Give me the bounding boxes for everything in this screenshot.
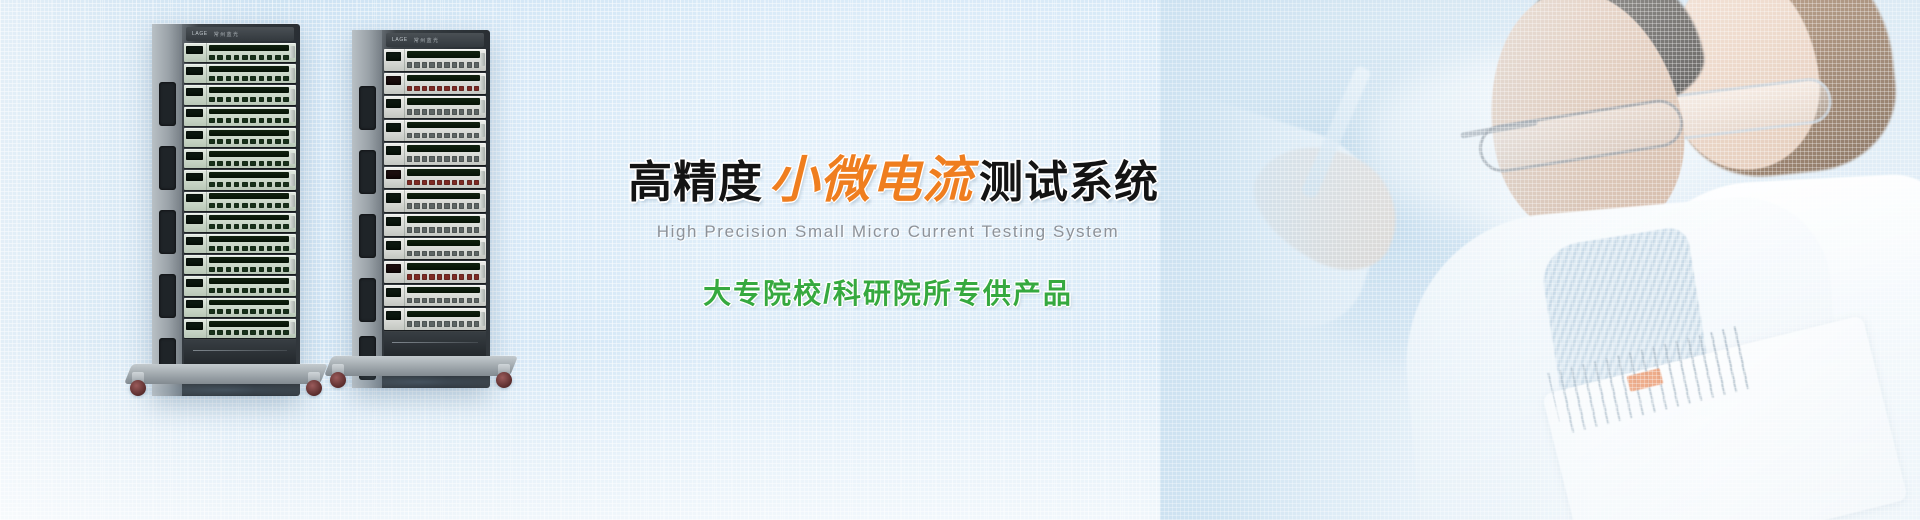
unit-knob: [429, 86, 434, 92]
unit-knob: [467, 86, 472, 92]
unit-knob: [275, 55, 281, 60]
unit-knob: [242, 118, 248, 123]
unit-display: [186, 88, 203, 96]
unit-knob: [259, 288, 265, 293]
unit-knob: [422, 298, 427, 304]
unit-knob: [422, 180, 427, 186]
unit-knob: [459, 133, 464, 139]
unit-knob: [444, 86, 449, 92]
unit-knob: [250, 76, 256, 81]
unit-display: [186, 131, 203, 139]
rack-unit: [384, 308, 486, 330]
unit-knob: [459, 251, 464, 257]
unit-knob-row: [407, 321, 480, 327]
rack-unit: [384, 73, 486, 95]
unit-display: [186, 67, 203, 75]
rack-unit: [184, 213, 296, 232]
unit-channel-section: [207, 170, 296, 189]
unit-handle: [290, 280, 295, 292]
headline-suffix: 测试系统: [979, 158, 1159, 207]
unit-knob: [474, 251, 479, 257]
unit-knob: [283, 267, 289, 272]
unit-channel-section: [207, 255, 296, 274]
rack-unit: [184, 319, 296, 338]
unit-knob-row: [209, 224, 289, 229]
unit-knob: [474, 321, 479, 327]
unit-knob: [209, 76, 215, 81]
unit-channel-section: [405, 190, 486, 212]
unit-control-section: [384, 214, 405, 236]
unit-knob-row: [209, 267, 289, 272]
unit-knob: [217, 182, 223, 187]
unit-knob: [275, 267, 281, 272]
unit-control-section: [184, 170, 207, 189]
unit-knob: [467, 133, 472, 139]
unit-knob: [429, 251, 434, 257]
unit-knob: [250, 246, 256, 251]
unit-knob: [242, 309, 248, 314]
rack-left-post: [352, 30, 382, 388]
unit-knob: [459, 180, 464, 186]
unit-channel-section: [405, 49, 486, 71]
unit-led-bar: [209, 172, 289, 178]
unit-knob: [407, 203, 412, 209]
unit-channel-section: [405, 143, 486, 165]
unit-knob: [250, 139, 256, 144]
unit-handle: [480, 218, 485, 231]
unit-knob-row: [407, 274, 480, 280]
unit-knob: [452, 109, 457, 115]
rack-post-slot: [359, 214, 376, 258]
unit-display: [186, 258, 203, 266]
unit-knob: [459, 109, 464, 115]
headline-prefix: 高精度: [628, 158, 763, 207]
rack-unit: [384, 167, 486, 189]
rack-unit: [384, 214, 486, 236]
unit-knob: [459, 321, 464, 327]
unit-knob: [234, 139, 240, 144]
unit-knob: [234, 330, 240, 335]
rack-post-slot: [359, 278, 376, 322]
unit-knob: [444, 156, 449, 162]
unit-knob: [444, 109, 449, 115]
unit-knob: [226, 246, 232, 251]
unit-knob: [422, 274, 427, 280]
unit-knob: [422, 133, 427, 139]
unit-knob: [226, 288, 232, 293]
unit-knob: [234, 76, 240, 81]
unit-knob-row: [209, 161, 289, 166]
unit-channel-section: [405, 120, 486, 142]
unit-knob: [217, 330, 223, 335]
rack-unit: [184, 107, 296, 126]
rack-base: [128, 352, 324, 396]
unit-knob: [474, 156, 479, 162]
unit-knob: [209, 161, 215, 166]
unit-knob-row: [407, 298, 480, 304]
unit-knob: [467, 180, 472, 186]
unit-knob: [267, 267, 273, 272]
unit-knob: [407, 227, 412, 233]
unit-knob: [275, 76, 281, 81]
unit-display: [386, 193, 401, 202]
unit-display: [186, 152, 203, 160]
unit-knob: [422, 251, 427, 257]
rack-unit: [184, 149, 296, 168]
subtitle-english: High Precision Small Micro Current Testi…: [628, 222, 1148, 242]
unit-led-bar: [209, 151, 289, 157]
lab-researchers-photo: [1160, 0, 1920, 520]
unit-handle: [480, 242, 485, 255]
unit-knob: [414, 298, 419, 304]
unit-knob: [452, 227, 457, 233]
unit-knob: [422, 156, 427, 162]
unit-knob: [452, 86, 457, 92]
unit-knob: [226, 139, 232, 144]
unit-led-bar: [407, 287, 480, 293]
unit-knob: [414, 274, 419, 280]
unit-knob: [259, 203, 265, 208]
rack-post-slot: [359, 86, 376, 130]
unit-knob: [226, 76, 232, 81]
unit-display: [186, 322, 203, 330]
unit-knob: [217, 267, 223, 272]
unit-knob: [250, 309, 256, 314]
unit-knob: [250, 55, 256, 60]
unit-control-section: [184, 107, 207, 126]
unit-channel-section: [405, 238, 486, 260]
unit-knob-row: [209, 246, 289, 251]
unit-knob-row: [209, 118, 289, 123]
unit-knob: [444, 251, 449, 257]
unit-knob-row: [209, 330, 289, 335]
unit-led-bar: [209, 193, 289, 199]
unit-handle: [480, 124, 485, 137]
unit-knob: [226, 330, 232, 335]
unit-knob: [250, 203, 256, 208]
unit-knob: [275, 118, 281, 123]
unit-knob: [217, 118, 223, 123]
unit-knob: [275, 97, 281, 102]
unit-knob-row: [407, 156, 480, 162]
unit-knob: [422, 62, 427, 68]
unit-display: [186, 194, 203, 202]
unit-knob: [267, 139, 273, 144]
unit-knob: [217, 224, 223, 229]
unit-knob: [474, 274, 479, 280]
unit-knob: [267, 309, 273, 314]
instrument-rack-right: LAGE 常州蓝光: [352, 30, 490, 388]
unit-knob: [407, 133, 412, 139]
unit-knob: [452, 251, 457, 257]
unit-knob: [226, 97, 232, 102]
unit-knob: [474, 86, 479, 92]
unit-knob: [414, 321, 419, 327]
unit-led-bar: [407, 122, 480, 128]
unit-control-section: [384, 238, 405, 260]
unit-knob: [217, 309, 223, 314]
unit-knob: [234, 161, 240, 166]
rack-unit: [184, 128, 296, 147]
unit-knob: [452, 321, 457, 327]
tagline-chinese: 大专院校/科研院所专供产品: [628, 272, 1148, 312]
rack-post-slot: [159, 274, 176, 318]
rack-brand-zh: 常州蓝光: [414, 37, 440, 44]
unit-knob: [209, 267, 215, 272]
unit-display: [386, 52, 401, 61]
unit-handle: [480, 171, 485, 184]
unit-channel-section: [207, 107, 296, 126]
unit-knob: [444, 298, 449, 304]
unit-knob: [437, 203, 442, 209]
unit-knob: [407, 109, 412, 115]
unit-knob: [467, 298, 472, 304]
unit-display: [186, 109, 203, 117]
unit-knob-row: [209, 76, 289, 81]
unit-knob: [474, 109, 479, 115]
unit-handle: [290, 68, 295, 80]
unit-knob: [267, 118, 273, 123]
unit-knob: [437, 251, 442, 257]
unit-knob: [267, 161, 273, 166]
rack-post-slot: [159, 210, 176, 254]
unit-knob-row: [209, 182, 289, 187]
unit-knob: [217, 139, 223, 144]
unit-knob: [217, 246, 223, 251]
rack-unit-stack: [384, 49, 486, 330]
rack-brand-latin: LAGE: [192, 31, 208, 37]
caster-wheel: [330, 372, 346, 388]
unit-handle: [480, 76, 485, 89]
unit-knob: [242, 224, 248, 229]
unit-display: [386, 288, 401, 297]
unit-knob: [407, 180, 412, 186]
rack-unit: [184, 85, 296, 104]
unit-knob: [467, 251, 472, 257]
unit-knob: [234, 182, 240, 187]
unit-knob: [209, 97, 215, 102]
unit-control-section: [384, 285, 405, 307]
unit-control-section: [184, 43, 207, 62]
unit-control-section: [384, 143, 405, 165]
unit-led-bar: [209, 66, 289, 72]
unit-channel-section: [207, 149, 296, 168]
product-banner: LAGE 常州蓝光 LAGE 常州蓝光: [0, 0, 1920, 520]
unit-knob: [234, 203, 240, 208]
unit-knob: [226, 55, 232, 60]
unit-knob-row: [407, 203, 480, 209]
unit-knob: [474, 298, 479, 304]
unit-control-section: [384, 190, 405, 212]
unit-channel-section: [405, 167, 486, 189]
unit-knob: [250, 288, 256, 293]
unit-channel-section: [405, 214, 486, 236]
unit-knob: [250, 224, 256, 229]
unit-knob: [209, 288, 215, 293]
unit-knob: [414, 86, 419, 92]
unit-knob: [275, 161, 281, 166]
unit-control-section: [184, 128, 207, 147]
unit-knob: [452, 203, 457, 209]
unit-knob: [242, 97, 248, 102]
unit-knob: [437, 62, 442, 68]
unit-knob: [242, 330, 248, 335]
unit-knob: [234, 55, 240, 60]
unit-knob: [414, 109, 419, 115]
unit-channel-section: [207, 43, 296, 62]
unit-knob: [407, 321, 412, 327]
unit-knob: [234, 246, 240, 251]
unit-led-bar: [209, 300, 289, 306]
unit-handle: [290, 301, 295, 313]
unit-knob: [250, 97, 256, 102]
unit-knob: [226, 267, 232, 272]
unit-knob: [474, 62, 479, 68]
unit-control-section: [184, 85, 207, 104]
unit-handle: [290, 174, 295, 186]
unit-knob: [429, 298, 434, 304]
rack-unit: [184, 234, 296, 253]
unit-led-bar: [209, 87, 289, 93]
unit-knob: [429, 109, 434, 115]
unit-knob: [234, 118, 240, 123]
unit-knob: [444, 62, 449, 68]
rack-unit: [184, 276, 296, 295]
unit-handle: [480, 289, 485, 302]
unit-channel-section: [207, 213, 296, 232]
unit-knob: [283, 288, 289, 293]
unit-display: [386, 76, 401, 85]
unit-handle: [480, 312, 485, 325]
unit-knob: [429, 227, 434, 233]
unit-control-section: [384, 73, 405, 95]
unit-knob: [407, 156, 412, 162]
unit-channel-section: [207, 276, 296, 295]
rack-unit: [384, 120, 486, 142]
unit-channel-section: [207, 85, 296, 104]
banner-text-block: 高精度小微电流测试系统 High Precision Small Micro C…: [628, 152, 1148, 312]
unit-knob: [209, 139, 215, 144]
unit-led-bar: [407, 145, 480, 151]
unit-knob-row: [209, 288, 289, 293]
unit-handle: [290, 89, 295, 101]
rack-unit-stack: [184, 43, 296, 338]
unit-channel-section: [405, 308, 486, 330]
unit-channel-section: [207, 64, 296, 83]
unit-channel-section: [207, 234, 296, 253]
unit-channel-section: [405, 285, 486, 307]
unit-knob: [242, 76, 248, 81]
unit-knob: [275, 246, 281, 251]
unit-knob: [437, 133, 442, 139]
unit-knob: [437, 274, 442, 280]
unit-knob: [467, 156, 472, 162]
unit-knob: [217, 97, 223, 102]
unit-led-bar: [407, 169, 480, 175]
unit-knob: [474, 180, 479, 186]
unit-handle: [290, 322, 295, 334]
unit-knob: [234, 97, 240, 102]
unit-display: [186, 279, 203, 287]
unit-knob: [283, 76, 289, 81]
unit-knob: [259, 76, 265, 81]
unit-handle: [290, 153, 295, 165]
unit-knob: [234, 224, 240, 229]
unit-knob: [437, 180, 442, 186]
unit-knob: [250, 182, 256, 187]
unit-handle: [290, 131, 295, 143]
unit-knob: [226, 203, 232, 208]
unit-knob: [259, 246, 265, 251]
unit-knob: [459, 203, 464, 209]
unit-knob: [209, 224, 215, 229]
unit-knob: [259, 118, 265, 123]
unit-led-bar: [209, 236, 289, 242]
instrument-rack-left: LAGE 常州蓝光: [152, 24, 300, 396]
unit-knob: [283, 161, 289, 166]
unit-knob: [414, 156, 419, 162]
unit-handle: [480, 53, 485, 66]
unit-knob: [226, 224, 232, 229]
unit-knob: [422, 203, 427, 209]
unit-knob: [283, 118, 289, 123]
unit-knob: [242, 139, 248, 144]
rack-unit: [184, 170, 296, 189]
unit-knob: [267, 224, 273, 229]
unit-display: [186, 46, 203, 54]
rack-unit: [384, 49, 486, 71]
unit-knob: [429, 62, 434, 68]
unit-knob: [259, 161, 265, 166]
unit-knob: [414, 203, 419, 209]
unit-knob: [283, 224, 289, 229]
unit-knob: [429, 156, 434, 162]
rack-unit: [184, 255, 296, 274]
headline-accent: 小微电流: [763, 150, 979, 209]
unit-display: [186, 215, 203, 223]
caster-wheel: [130, 380, 146, 396]
unit-knob: [250, 118, 256, 123]
unit-knob: [429, 203, 434, 209]
unit-knob: [209, 309, 215, 314]
unit-knob: [242, 288, 248, 293]
unit-knob: [250, 330, 256, 335]
unit-knob: [242, 267, 248, 272]
unit-channel-section: [405, 261, 486, 283]
unit-knob-row: [407, 227, 480, 233]
unit-knob-row: [407, 62, 480, 68]
unit-knob: [217, 55, 223, 60]
unit-control-section: [184, 319, 207, 338]
unit-knob: [267, 97, 273, 102]
unit-knob: [422, 227, 427, 233]
unit-knob: [283, 246, 289, 251]
unit-knob: [429, 180, 434, 186]
unit-knob: [259, 267, 265, 272]
unit-knob: [467, 227, 472, 233]
unit-control-section: [384, 308, 405, 330]
rack-unit: [184, 298, 296, 317]
unit-channel-section: [207, 319, 296, 338]
unit-knob: [234, 309, 240, 314]
unit-handle: [290, 237, 295, 249]
unit-knob: [429, 133, 434, 139]
rack-post-slot: [159, 146, 176, 190]
unit-knob: [422, 86, 427, 92]
unit-knob: [234, 288, 240, 293]
unit-knob: [226, 118, 232, 123]
unit-knob: [275, 182, 281, 187]
